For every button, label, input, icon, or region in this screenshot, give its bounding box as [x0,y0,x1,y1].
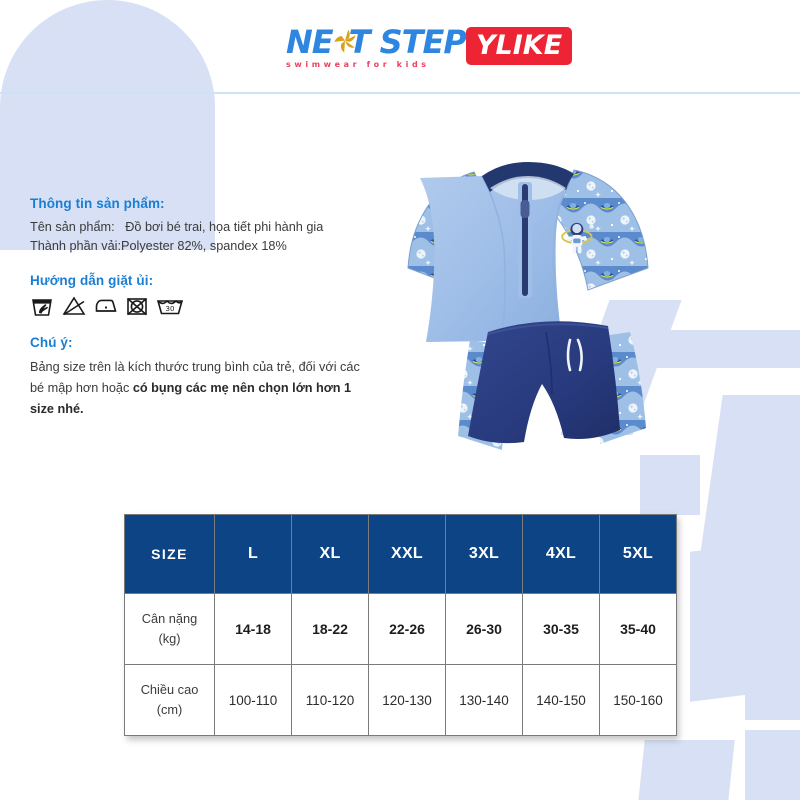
product-size-chart-page: NET STEP swimwear for kids YLIKE Thông t… [0,0,800,800]
logo-text-ne: NE [286,23,333,61]
hand-wash-icon [30,295,54,317]
watermark-block-d [635,740,734,800]
row-label-height: Chiều cao (cm) [125,665,215,736]
shirt-right-sleeve [556,170,648,290]
next-step-wordmark: NET STEP [286,26,458,58]
height-3xl: 130-140 [446,665,523,736]
wash-30-degrees-icon: 30 [156,295,184,317]
next-step-logo: NET STEP swimwear for kids [286,26,458,69]
note-text: Bảng size trên là kích thước trung bình … [30,357,366,420]
header-xl: XL [292,515,369,594]
brand-logo: NET STEP swimwear for kids YLIKE [286,26,572,69]
product-photo [378,130,678,520]
product-name-row: Tên sản phẩm: Đồ bơi bé trai, họa tiết p… [30,218,380,237]
care-icons-row: 30 [30,295,380,317]
product-info-heading: Thông tin sản phẩm: [30,196,380,211]
weight-5xl: 35-40 [600,594,677,665]
size-table-head: SIZE L XL XXL 3XL 4XL 5XL [125,515,677,594]
logo-text-step: STEP [380,23,466,61]
height-5xl: 150-160 [600,665,677,736]
height-l: 100-110 [215,665,292,736]
table-row-height: Chiều cao (cm) 100-110 110-120 120-130 1… [125,665,677,736]
height-xxl: 120-130 [369,665,446,736]
weight-xl: 18-22 [292,594,369,665]
zipper-pull [521,200,530,218]
size-table-body: Cân nặng (kg) 14-18 18-22 22-26 26-30 30… [125,594,677,736]
header-4xl: 4XL [523,515,600,594]
row-label-height-line1: Chiều cao [126,680,213,700]
product-material-row: Thành phần vải:Polyester 82%, spandex 18… [30,237,380,256]
size-chart-table: SIZE L XL XXL 3XL 4XL 5XL Cân nặng (kg) … [124,514,677,736]
height-xl: 110-120 [292,665,369,736]
ylike-logo: YLIKE [466,27,572,65]
header: NET STEP swimwear for kids YLIKE [0,0,800,92]
watermark-block-b [690,538,800,702]
weight-4xl: 30-35 [523,594,600,665]
row-label-weight-line1: Cân nặng [126,609,213,629]
do-not-bleach-icon [61,295,87,317]
row-label-height-line2: (cm) [126,700,213,720]
wash-temp-label: 30 [166,305,175,313]
row-label-weight-line2: (kg) [126,629,213,649]
product-info-section: Thông tin sản phẩm: Tên sản phẩm: Đồ bơi… [30,196,380,420]
starfish-icon [332,28,358,54]
size-chart-table-wrapper: SIZE L XL XXL 3XL 4XL 5XL Cân nặng (kg) … [124,514,676,736]
note-heading: Chú ý: [30,335,380,350]
header-size: SIZE [125,515,215,594]
header-divider [0,92,800,94]
header-5xl: 5XL [600,515,677,594]
do-not-tumble-dry-icon [125,295,149,317]
product-name-value: Đồ bơi bé trai, họa tiết phi hành gia [125,220,323,234]
header-3xl: 3XL [446,515,523,594]
product-photo-illustration [378,130,678,520]
swim-shirt [408,162,648,342]
row-label-weight: Cân nặng (kg) [125,594,215,665]
watermark-block-c [745,430,800,720]
header-l: L [215,515,292,594]
iron-low-heat-icon [94,295,118,317]
weight-xxl: 22-26 [369,594,446,665]
watermark-block-a [697,395,800,575]
weight-3xl: 26-30 [446,594,523,665]
product-name-label: Tên sản phẩm: [30,218,115,237]
table-row-weight: Cân nặng (kg) 14-18 18-22 22-26 26-30 30… [125,594,677,665]
brand-tagline: swimwear for kids [286,60,458,69]
size-table-header-row: SIZE L XL XXL 3XL 4XL 5XL [125,515,677,594]
product-material-label: Thành phần vải: [30,237,121,256]
header-xxl: XXL [369,515,446,594]
watermark-block-e [745,730,800,800]
shorts-body [468,321,620,443]
height-4xl: 140-150 [523,665,600,736]
care-instructions-heading: Hướng dẫn giặt ủi: [30,273,380,288]
weight-l: 14-18 [215,594,292,665]
note-section: Chú ý: Bảng size trên là kích thước trun… [30,335,380,420]
product-material-value: Polyester 82%, spandex 18% [121,239,287,253]
